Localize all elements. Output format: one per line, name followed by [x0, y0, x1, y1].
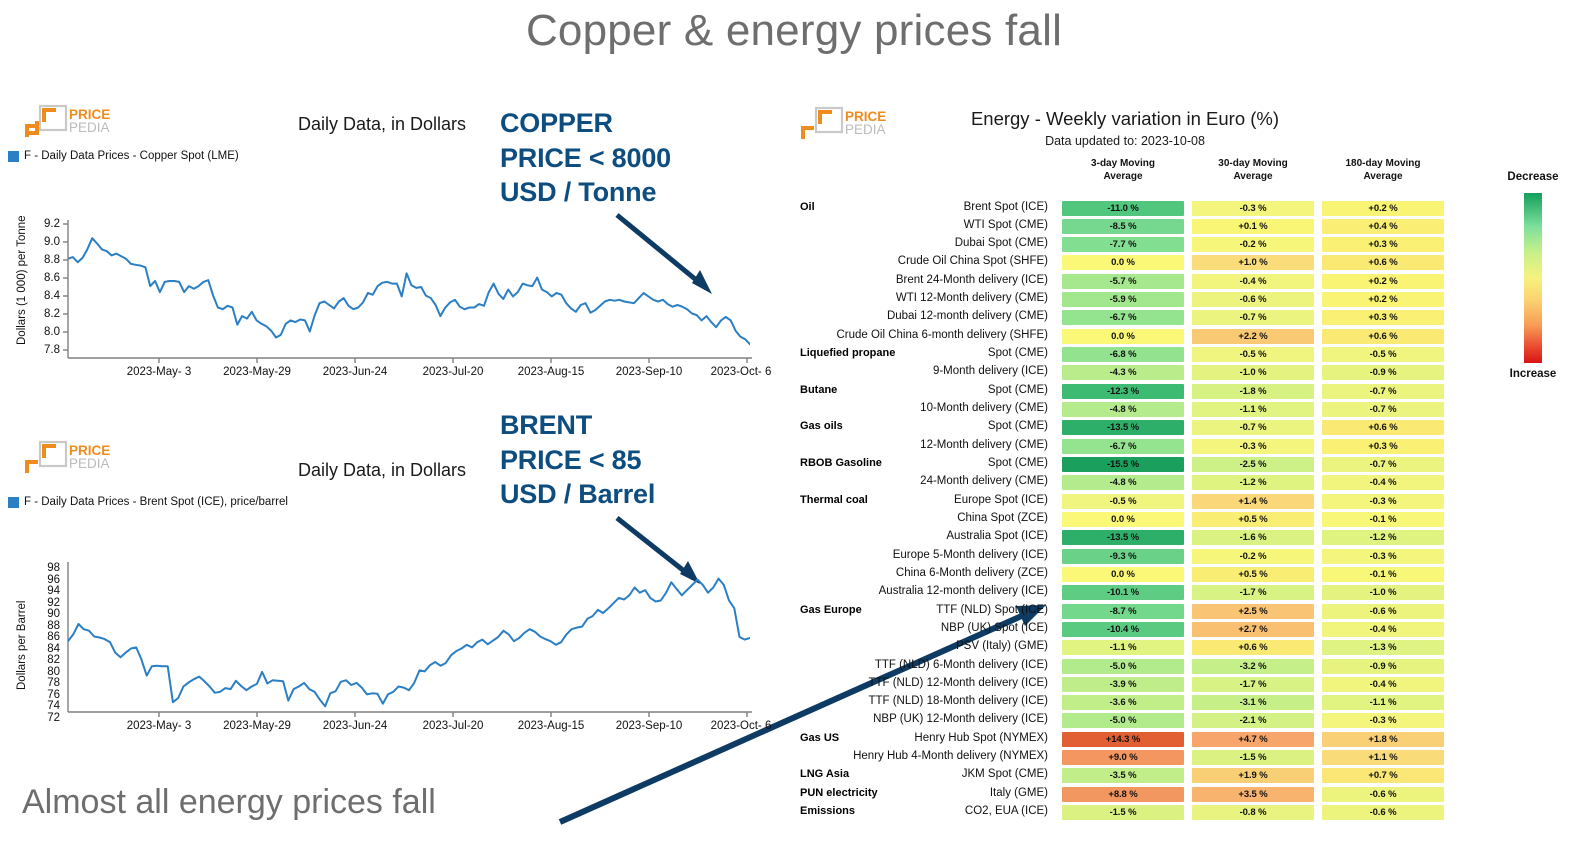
variation-cell: -3.5 % [1062, 768, 1184, 783]
variation-cell: -1.0 % [1322, 585, 1444, 600]
variation-cell: -1.7 % [1192, 585, 1314, 600]
variation-cell: -1.1 % [1322, 695, 1444, 710]
variation-cell: -0.7 % [1322, 457, 1444, 472]
y-tick-label: 88 [2, 620, 60, 632]
panel-title: Energy - Weekly variation in Euro (%) [795, 108, 1455, 130]
copper-callout-text: COPPER PRICE < 8000 USD / Tonne [500, 106, 750, 210]
row-label: NBP (UK) Spot (ICE) [830, 622, 1048, 634]
y-tick-label: 8.0 [2, 326, 60, 338]
y-tick-label: 82 [2, 654, 60, 666]
variation-cell: -0.5 % [1062, 494, 1184, 509]
copper-callout-line-1: COPPER [500, 106, 750, 141]
variation-cell: -1.1 % [1192, 402, 1314, 417]
copper-legend-label: F - Daily Data Prices - Copper Spot (LME… [24, 150, 239, 162]
row-label: CO2, EUA (ICE) [830, 805, 1048, 817]
row-label: 24-Month delivery (CME) [830, 475, 1048, 487]
y-tick-label: 76 [2, 689, 60, 701]
variation-cell: +0.3 % [1322, 439, 1444, 454]
brent-series-legend: F - Daily Data Prices - Brent Spot (ICE)… [8, 496, 288, 508]
row-label: Brent Spot (ICE) [830, 201, 1048, 213]
y-tick-label: 9.0 [2, 236, 60, 248]
brent-callout-line-3: USD / Barrel [500, 477, 750, 512]
copper-callout-line-2: PRICE < 8000 [500, 141, 750, 176]
variation-cell: -1.1 % [1062, 640, 1184, 655]
variation-cell: -0.3 % [1192, 201, 1314, 216]
variation-cell: -8.7 % [1062, 604, 1184, 619]
variation-cell: -9.3 % [1062, 549, 1184, 564]
brand-bottom-text: PEDIA [69, 120, 110, 135]
variation-cell: -13.5 % [1062, 530, 1184, 545]
brent-callout-text: BRENT PRICE < 85 USD / Barrel [500, 408, 750, 512]
y-tick-label: 94 [2, 585, 60, 597]
variation-cell: -6.7 % [1062, 439, 1184, 454]
variation-cell: +2.7 % [1192, 622, 1314, 637]
row-label: TTF (NLD) Spot (ICE) [830, 604, 1048, 616]
variation-cell: +3.5 % [1192, 787, 1314, 802]
variation-cell: -0.4 % [1322, 677, 1444, 692]
x-tick-label: 2023-May- 3 [111, 366, 207, 378]
y-tick-label: 80 [2, 666, 60, 678]
copper-chart-svg [68, 222, 750, 352]
variation-cell: -0.7 % [1322, 384, 1444, 399]
variation-cell: -6.8 % [1062, 347, 1184, 362]
row-label: Henry Hub 4-Month delivery (NYMEX) [830, 750, 1048, 762]
variation-cell: +8.8 % [1062, 787, 1184, 802]
x-tick-label: 2023-Oct- 6 [693, 720, 789, 732]
row-label: NBP (UK) 12-Month delivery (ICE) [830, 713, 1048, 725]
copper-callout-line-3: USD / Tonne [500, 175, 750, 210]
variation-cell: +1.8 % [1322, 732, 1444, 747]
variation-cell: -0.3 % [1322, 494, 1444, 509]
row-label: Europe Spot (ICE) [830, 494, 1048, 506]
row-label: TTF (NLD) 6-Month delivery (ICE) [830, 659, 1048, 671]
variation-cell: -11.0 % [1062, 201, 1184, 216]
row-label: Spot (CME) [830, 420, 1048, 432]
variation-cell: -0.5 % [1192, 347, 1314, 362]
brent-callout-line-2: PRICE < 85 [500, 443, 750, 478]
variation-cell: -1.5 % [1192, 750, 1314, 765]
x-tick-label: 2023-Aug-15 [503, 366, 599, 378]
x-tick-label: 2023-May-29 [209, 720, 305, 732]
variation-cell: -5.0 % [1062, 713, 1184, 728]
variation-cell: 0.0 % [1062, 255, 1184, 270]
variation-cell: -0.7 % [1192, 420, 1314, 435]
colorbar-gradient [1524, 193, 1542, 363]
brent-legend-label: F - Daily Data Prices - Brent Spot (ICE)… [24, 496, 288, 508]
variation-cell: -0.4 % [1192, 274, 1314, 289]
brand-bottom-text: PEDIA [69, 456, 110, 471]
variation-cell: -1.3 % [1322, 640, 1444, 655]
page-title: Copper & energy prices fall [0, 6, 1588, 56]
y-tick-label: 8.2 [2, 308, 60, 320]
x-tick-label: 2023-Jun-24 [307, 366, 403, 378]
variation-cell: -2.1 % [1192, 713, 1314, 728]
row-label: TTF (NLD) 18-Month delivery (ICE) [830, 695, 1048, 707]
variation-cell: -8.5 % [1062, 219, 1184, 234]
y-tick-label: 8.6 [2, 272, 60, 284]
variation-cell: -0.5 % [1322, 347, 1444, 362]
footer-caption: Almost all energy prices fall [22, 783, 436, 822]
x-tick-label: 2023-Sep-10 [601, 366, 697, 378]
y-tick-label: 84 [2, 643, 60, 655]
variation-cell: -15.5 % [1062, 457, 1184, 472]
variation-cell: +1.9 % [1192, 768, 1314, 783]
variation-cell: -2.5 % [1192, 457, 1314, 472]
y-tick-label: 8.4 [2, 290, 60, 302]
copper-legend-swatch [8, 151, 19, 162]
variation-cell: -7.7 % [1062, 237, 1184, 252]
brent-legend-swatch [8, 497, 19, 508]
y-tick-label: 7.8 [2, 344, 60, 356]
row-label: China Spot (ZCE) [830, 512, 1048, 524]
variation-cell: -0.3 % [1322, 549, 1444, 564]
row-label: Crude Oil China Spot (SHFE) [830, 255, 1048, 267]
variation-cell: +0.2 % [1322, 274, 1444, 289]
variation-cell: -4.3 % [1062, 365, 1184, 380]
x-tick-label: 2023-Aug-15 [503, 720, 599, 732]
row-label: PSV (Italy) (GME) [830, 640, 1048, 652]
variation-cell: -4.8 % [1062, 402, 1184, 417]
variation-cell: -0.6 % [1322, 787, 1444, 802]
variation-cell: +4.7 % [1192, 732, 1314, 747]
variation-cell: -0.1 % [1322, 567, 1444, 582]
variation-cell: -6.7 % [1062, 310, 1184, 325]
row-label: Dubai 12-month delivery (CME) [830, 310, 1048, 322]
variation-cell: -10.1 % [1062, 585, 1184, 600]
row-label: WTI Spot (CME) [830, 219, 1048, 231]
variation-cell: -0.4 % [1322, 475, 1444, 490]
colorbar-label-increase: Increase [1481, 368, 1585, 380]
variation-cell: -5.0 % [1062, 659, 1184, 674]
row-label: Spot (CME) [830, 384, 1048, 396]
brent-chart-subtitle: Daily Data, in Dollars [298, 460, 466, 481]
y-tick-label: 92 [2, 597, 60, 609]
row-label: 12-Month delivery (CME) [830, 439, 1048, 451]
variation-cell: -3.9 % [1062, 677, 1184, 692]
variation-cell: +0.6 % [1192, 640, 1314, 655]
x-tick-label: 2023-Jul-20 [405, 366, 501, 378]
variation-cell: +0.5 % [1192, 567, 1314, 582]
column-header: 180-day MovingAverage [1322, 158, 1444, 183]
variation-cell: +0.2 % [1322, 201, 1444, 216]
variation-cell: +0.2 % [1322, 292, 1444, 307]
copper-line-chart [68, 222, 750, 352]
variation-cell: +0.6 % [1322, 255, 1444, 270]
variation-cell: -1.2 % [1192, 475, 1314, 490]
variation-cell: +0.7 % [1322, 768, 1444, 783]
x-tick-label: 2023-Oct- 6 [693, 366, 789, 378]
panel-subtitle: Data updated to: 2023-10-08 [795, 134, 1455, 148]
row-label: Italy (GME) [830, 787, 1048, 799]
row-label: Australia Spot (ICE) [830, 530, 1048, 542]
variation-cell: +1.1 % [1322, 750, 1444, 765]
variation-cell: -0.3 % [1192, 439, 1314, 454]
variation-cell: -0.2 % [1192, 237, 1314, 252]
variation-cell: -1.2 % [1322, 530, 1444, 545]
x-tick-label: 2023-Jun-24 [307, 720, 403, 732]
variation-cell: +2.5 % [1192, 604, 1314, 619]
row-group-label: Oil [800, 201, 815, 213]
variation-cell: -10.4 % [1062, 622, 1184, 637]
variation-cell: -3.1 % [1192, 695, 1314, 710]
row-label: 10-Month delivery (CME) [830, 402, 1048, 414]
row-label: Henry Hub Spot (NYMEX) [830, 732, 1048, 744]
variation-cell: -5.9 % [1062, 292, 1184, 307]
variation-cell: -1.0 % [1192, 365, 1314, 380]
row-label: Dubai Spot (CME) [830, 237, 1048, 249]
variation-cell: +9.0 % [1062, 750, 1184, 765]
variation-cell: -1.5 % [1062, 805, 1184, 820]
variation-cell: -0.6 % [1322, 604, 1444, 619]
variation-cell: 0.0 % [1062, 512, 1184, 527]
row-label: Spot (CME) [830, 457, 1048, 469]
column-header: 3-day MovingAverage [1062, 158, 1184, 183]
colorbar-label-decrease: Decrease [1481, 171, 1585, 183]
variation-cell: -5.7 % [1062, 274, 1184, 289]
row-label: Australia 12-month delivery (ICE) [830, 585, 1048, 597]
y-tick-label: 74 [2, 700, 60, 712]
row-label: WTI 12-Month delivery (CME) [830, 292, 1048, 304]
variation-cell: -1.6 % [1192, 530, 1314, 545]
variation-cell: 0.0 % [1062, 567, 1184, 582]
variation-cell: -0.2 % [1192, 549, 1314, 564]
variation-cell: -0.9 % [1322, 659, 1444, 674]
y-tick-label: 98 [2, 562, 60, 574]
variation-cell: -0.6 % [1192, 292, 1314, 307]
variation-cell: +0.6 % [1322, 420, 1444, 435]
variation-cell: -0.1 % [1322, 512, 1444, 527]
variation-cell: +2.2 % [1192, 329, 1314, 344]
variation-cell: -0.8 % [1192, 805, 1314, 820]
variation-cell: -1.7 % [1192, 677, 1314, 692]
variation-cell: -3.6 % [1062, 695, 1184, 710]
column-header: 30-day MovingAverage [1192, 158, 1314, 183]
brent-callout-line-1: BRENT [500, 408, 750, 443]
y-tick-label: 72 [2, 712, 60, 724]
row-label: China 6-Month delivery (ZCE) [830, 567, 1048, 579]
variation-cell: -13.5 % [1062, 420, 1184, 435]
variation-cell: +1.0 % [1192, 255, 1314, 270]
variation-cell: +0.3 % [1322, 310, 1444, 325]
copper-series-legend: F - Daily Data Prices - Copper Spot (LME… [8, 150, 239, 162]
pricepedia-logo-brent: PRICE PEDIA [22, 440, 114, 482]
variation-cell: -0.3 % [1322, 713, 1444, 728]
row-label: Spot (CME) [830, 347, 1048, 359]
x-tick-label: 2023-Jul-20 [405, 720, 501, 732]
variation-cell: -3.2 % [1192, 659, 1314, 674]
variation-cell: +0.6 % [1322, 329, 1444, 344]
variation-cell: -1.8 % [1192, 384, 1314, 399]
variation-cell: +1.4 % [1192, 494, 1314, 509]
row-label: Europe 5-Month delivery (ICE) [830, 549, 1048, 561]
variation-cell: -0.9 % [1322, 365, 1444, 380]
variation-cell: 0.0 % [1062, 329, 1184, 344]
variation-cell: +0.4 % [1322, 219, 1444, 234]
variation-cell: +0.5 % [1192, 512, 1314, 527]
x-tick-label: 2023-Sep-10 [601, 720, 697, 732]
variation-cell: -0.6 % [1322, 805, 1444, 820]
row-label: TTF (NLD) 12-Month delivery (ICE) [830, 677, 1048, 689]
copper-chart-subtitle: Daily Data, in Dollars [298, 114, 466, 135]
variation-cell: +14.3 % [1062, 732, 1184, 747]
row-label: Brent 24-Month delivery (ICE) [830, 274, 1048, 286]
pricepedia-logo-copper: PRICE PEDIA [22, 104, 114, 146]
y-tick-label: 78 [2, 677, 60, 689]
y-tick-label: 9.2 [2, 218, 60, 230]
y-tick-label: 90 [2, 608, 60, 620]
variation-cell: -4.8 % [1062, 475, 1184, 490]
y-tick-label: 8.8 [2, 254, 60, 266]
row-label: JKM Spot (CME) [830, 768, 1048, 780]
variation-cell: -0.7 % [1322, 402, 1444, 417]
row-label: Crude Oil China 6-month delivery (SHFE) [830, 329, 1048, 341]
variation-cell: -0.4 % [1322, 622, 1444, 637]
variation-cell: -12.3 % [1062, 384, 1184, 399]
y-tick-label: 86 [2, 631, 60, 643]
x-tick-label: 2023-May-29 [209, 366, 305, 378]
y-tick-label: 96 [2, 574, 60, 586]
variation-cell: +0.3 % [1322, 237, 1444, 252]
row-label: 9-Month delivery (ICE) [830, 365, 1048, 377]
variation-cell: -0.7 % [1192, 310, 1314, 325]
variation-cell: +0.1 % [1192, 219, 1314, 234]
brent-chart-svg [68, 564, 750, 710]
brent-line-chart [68, 564, 750, 710]
x-tick-label: 2023-May- 3 [111, 720, 207, 732]
